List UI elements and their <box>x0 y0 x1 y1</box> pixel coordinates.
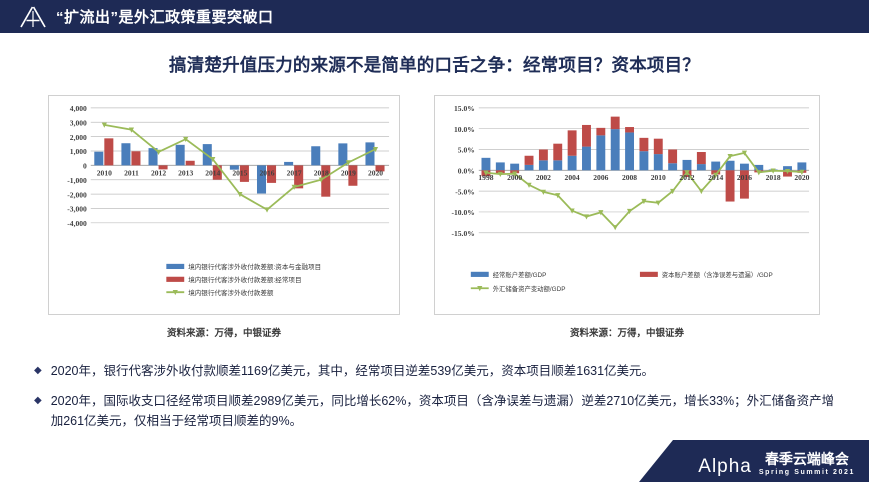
svg-text:境内银行代客涉外收付款差额:经常项目: 境内银行代客涉外收付款差额:经常项目 <box>188 275 301 284</box>
svg-text:-2,000: -2,000 <box>67 190 87 199</box>
svg-text:-5.0%: -5.0% <box>455 187 475 196</box>
svg-text:1,000: 1,000 <box>70 147 87 156</box>
svg-text:2020: 2020 <box>794 173 809 182</box>
svg-text:2017: 2017 <box>287 168 302 177</box>
svg-text:-1,000: -1,000 <box>67 176 87 185</box>
svg-text:4,000: 4,000 <box>70 104 87 113</box>
footer-cn-text: 春季云端峰会 <box>765 452 849 466</box>
svg-text:2000: 2000 <box>507 173 522 182</box>
footer-summit-block: 春季云端峰会 Spring Summit 2021 <box>759 452 855 476</box>
source-note-left: 资料来源：万得，中银证券 <box>48 325 400 339</box>
svg-text:-10.0%: -10.0% <box>452 208 475 217</box>
svg-text:2,000: 2,000 <box>70 133 87 142</box>
bullet-list: ◆ 2020年，银行代客涉外收付款顺差1169亿美元，其中，经常项目逆差539亿… <box>34 362 844 442</box>
svg-text:2004: 2004 <box>565 173 580 182</box>
svg-text:经常账户差额/GDP: 经常账户差额/GDP <box>493 270 547 279</box>
svg-text:2002: 2002 <box>536 173 551 182</box>
footer-en-text: Spring Summit 2021 <box>759 469 855 476</box>
svg-text:2015: 2015 <box>232 168 247 177</box>
chart-left-container: 4,0003,0002,0001,0000-1,000-2,000-3,000-… <box>48 95 400 315</box>
svg-text:0: 0 <box>83 162 87 171</box>
bullet-item: ◆ 2020年，国际收支口径经常项目顺差2989亿美元，同比增长62%，资本项目… <box>34 392 844 431</box>
footer-brand-text: Alpha <box>698 457 752 476</box>
svg-text:2006: 2006 <box>593 173 608 182</box>
bullet-text: 2020年，银行代客涉外收付款顺差1169亿美元，其中，经常项目逆差539亿美元… <box>51 362 844 381</box>
svg-text:0.0%: 0.0% <box>458 167 475 176</box>
chart-left-plot: 4,0003,0002,0001,0000-1,000-2,000-3,000-… <box>49 96 399 314</box>
svg-text:2008: 2008 <box>622 173 637 182</box>
svg-text:2019: 2019 <box>341 168 356 177</box>
svg-text:资本账户差额（含净误差与遗漏）/GDP: 资本账户差额（含净误差与遗漏）/GDP <box>662 270 773 279</box>
svg-text:2016: 2016 <box>259 168 274 177</box>
svg-text:境内银行代客涉外收付款差额:资本与金融项目: 境内银行代客涉外收付款差额:资本与金融项目 <box>188 262 321 271</box>
source-note-right: 资料来源：万得，中银证券 <box>434 325 820 339</box>
svg-text:2010: 2010 <box>97 168 112 177</box>
chart-right-plot: 15.0%10.0%5.0%0.0%-5.0%-10.0%-15.0%19982… <box>435 96 819 314</box>
svg-text:-15.0%: -15.0% <box>452 229 475 238</box>
svg-text:外汇储备资产变动额/GDP: 外汇储备资产变动额/GDP <box>493 284 566 293</box>
svg-text:2014: 2014 <box>205 168 220 177</box>
svg-text:2018: 2018 <box>766 173 781 182</box>
svg-text:15.0%: 15.0% <box>454 104 475 113</box>
svg-text:-4,000: -4,000 <box>67 219 87 228</box>
svg-text:5.0%: 5.0% <box>458 146 475 155</box>
slide-footer-brand: Alpha 春季云端峰会 Spring Summit 2021 <box>639 440 869 482</box>
svg-text:2018: 2018 <box>314 168 329 177</box>
svg-text:2012: 2012 <box>679 173 694 182</box>
slide-header-bar: “扩流出”是外汇政策重要突破口 <box>0 0 869 33</box>
bullet-marker-icon: ◆ <box>34 363 42 379</box>
svg-text:2010: 2010 <box>651 173 666 182</box>
svg-text:境内银行代客涉外收付款差额: 境内银行代客涉外收付款差额 <box>188 288 274 297</box>
bullet-item: ◆ 2020年，银行代客涉外收付款顺差1169亿美元，其中，经常项目逆差539亿… <box>34 362 844 381</box>
header-title: “扩流出”是外汇政策重要突破口 <box>56 6 274 27</box>
footer-content: Alpha 春季云端峰会 Spring Summit 2021 <box>698 452 855 476</box>
svg-text:2016: 2016 <box>737 173 752 182</box>
bullet-marker-icon: ◆ <box>34 393 42 409</box>
svg-text:2012: 2012 <box>151 168 166 177</box>
svg-text:2014: 2014 <box>708 173 723 182</box>
chart-right-container: 15.0%10.0%5.0%0.0%-5.0%-10.0%-15.0%19982… <box>434 95 820 315</box>
svg-text:10.0%: 10.0% <box>454 125 475 134</box>
svg-text:2013: 2013 <box>178 168 193 177</box>
page-title: 搞清楚升值压力的来源不是简单的口舌之争：经常项目？资本项目？ <box>0 52 869 77</box>
bullet-text: 2020年，国际收支口径经常项目顺差2989亿美元，同比增长62%，资本项目（含… <box>51 392 844 431</box>
alpha-triangle-logo-icon <box>18 6 48 28</box>
svg-text:-3,000: -3,000 <box>67 205 87 214</box>
svg-text:2020: 2020 <box>368 168 383 177</box>
svg-text:2011: 2011 <box>124 168 139 177</box>
svg-text:3,000: 3,000 <box>70 118 87 127</box>
svg-text:1998: 1998 <box>478 173 493 182</box>
